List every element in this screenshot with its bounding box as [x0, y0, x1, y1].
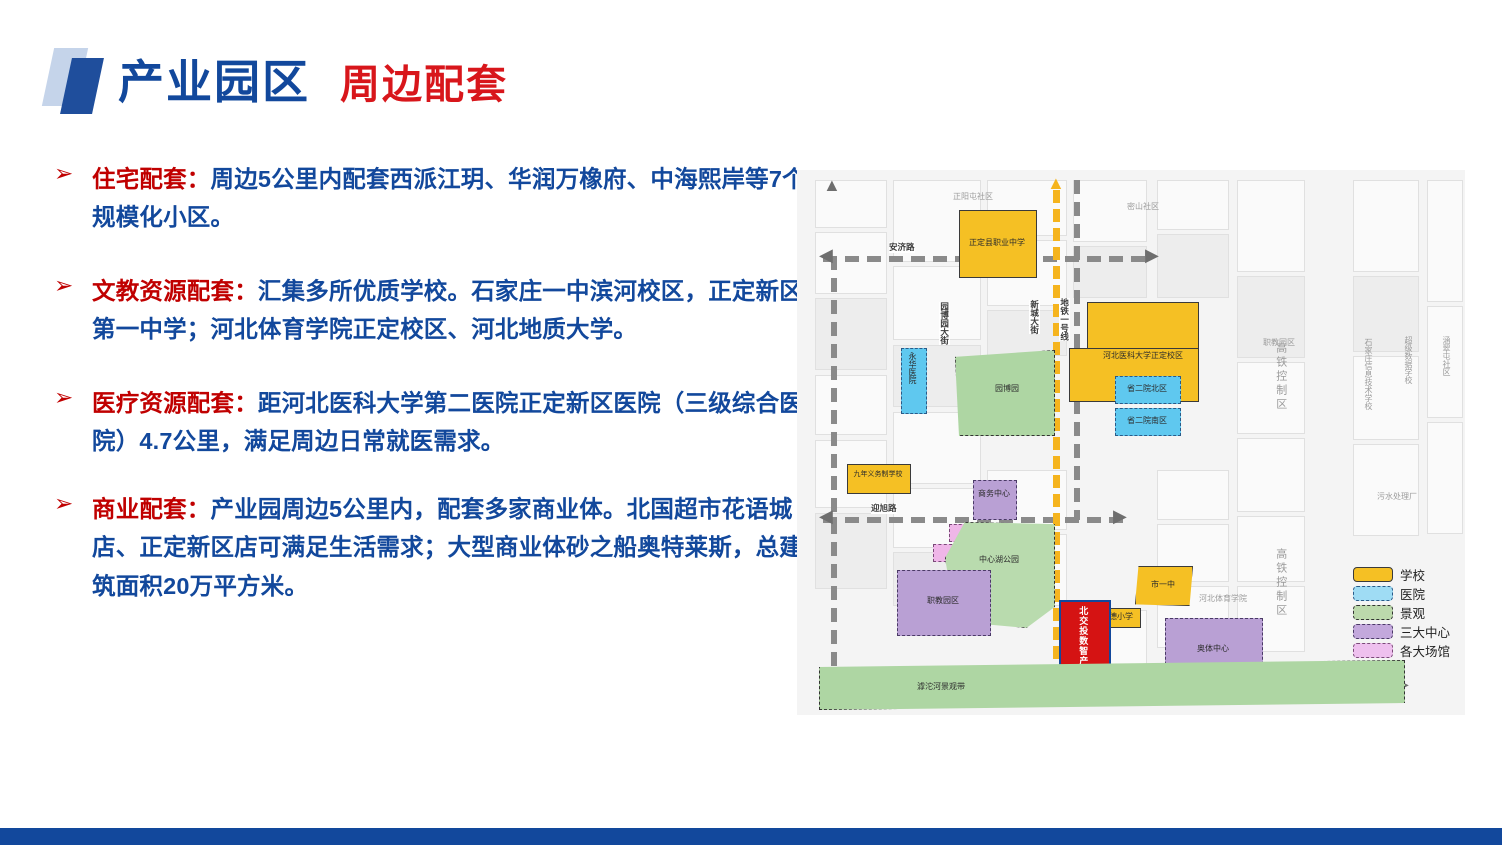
parcel-label-river-green-belt: 滹沱河景观带 [881, 682, 1001, 692]
legend-swatch-venues-icon [1353, 643, 1393, 658]
legend-item-three-centers: 三大中心 [1353, 623, 1457, 640]
bullet-text: 住宅配套：周边5公里内配套西派江玥、华润万橡府、中海熙岸等7个规模化小区。 [92, 160, 806, 236]
page-subtitle: 周边配套 [340, 52, 508, 110]
road-label-xincheng: 新城大街 [1029, 300, 1040, 334]
metro-arrow-north-icon: ▲ [1047, 174, 1065, 192]
parcel-business-center [973, 480, 1017, 520]
parcel-label-vocational-school: 正定县职业中学 [963, 238, 1031, 248]
map-block [815, 298, 887, 370]
legend-item-hospital: 医院 [1353, 585, 1457, 602]
map-legend: 学校 医院 景观 三大中心 各大场馆 [1353, 566, 1457, 661]
legend-label-three-centers: 三大中心 [1400, 622, 1450, 641]
bullet-arrow-icon: ➢ [54, 274, 73, 297]
faint-label: 河北体育学院 [1199, 594, 1247, 604]
road-label-metro-line-1: 地铁一号线 [1059, 298, 1070, 341]
faint-label: 涵翠屯社区 [1441, 336, 1451, 376]
map-block [1237, 516, 1305, 582]
road-arrow-east2-icon: ▶ [1113, 507, 1127, 525]
map-block [1427, 180, 1463, 302]
map-block [1157, 234, 1229, 298]
road-arrow-west-icon: ◀ [819, 246, 833, 264]
map-block [1353, 180, 1419, 272]
legend-swatch-three-centers-icon [1353, 624, 1393, 639]
parcel-label-central-lake-park: 中心湖公园 [969, 554, 1029, 567]
road-west-arterial [831, 256, 837, 688]
bullet-arrow-icon: ➢ [54, 492, 73, 515]
bullet-text: 医疗资源配套：距河北医科大学第二医院正定新区医院（三级综合医院）4.7公里，满足… [92, 384, 806, 460]
bullet-text: 文教资源配套：汇集多所优质学校。石家庄一中滨河校区，正定新区第一中学；河北体育学… [92, 272, 806, 348]
list-item: ➢ 商业配套：产业园周边5公里内，配套多家商业体。北国超市花语城店、正定新区店可… [46, 490, 806, 604]
faint-label: 超级数据学校 [1403, 336, 1413, 384]
parcel-label-nine-year-school: 九年义务制学校 [849, 470, 907, 479]
bullet-label: 住宅配套： [92, 166, 211, 192]
parcel-label-intl-expo-center: 职教园区 [901, 596, 985, 606]
list-item: ➢ 文教资源配套：汇集多所优质学校。石家庄一中滨河校区，正定新区第一中学；河北体… [46, 272, 806, 348]
map-block [1237, 362, 1305, 434]
legend-label-school: 学校 [1400, 565, 1425, 584]
parcel-label-city-no1-middle: 市一中 [1139, 580, 1187, 590]
map-block [1237, 438, 1305, 512]
bullet-label: 文教资源配套： [92, 278, 258, 304]
road-label-anji: 安济路 [889, 242, 915, 253]
hsr-control-zone-north: 高铁控制区 [1273, 342, 1287, 412]
faint-label: 正阳屯社区 [953, 192, 993, 202]
road-arrow-north-icon: ▲ [823, 176, 841, 194]
parcel-label-yonghua-hospital: 永华医院 [907, 352, 917, 384]
page-title: 产业园区 [118, 46, 310, 112]
legend-item-landscape: 景观 [1353, 604, 1457, 621]
map-block [1157, 180, 1229, 230]
parcel-label-prov2-north: 省二院北区 [1117, 384, 1177, 394]
legend-label-landscape: 景观 [1400, 603, 1425, 622]
bullet-list: ➢ 住宅配套：周边5公里内配套西派江玥、华润万橡府、中海熙岸等7个规模化小区。 … [46, 160, 806, 641]
legend-swatch-hospital-icon [1353, 586, 1393, 601]
legend-label-hospital: 医院 [1400, 584, 1425, 603]
legend-swatch-school-icon [1353, 567, 1393, 582]
parcel-label-business-center: 商务中心 [975, 488, 1013, 499]
map-block [815, 375, 887, 435]
bullet-arrow-icon: ➢ [54, 162, 73, 185]
legend-item-school: 学校 [1353, 566, 1457, 583]
legend-swatch-landscape-icon [1353, 605, 1393, 620]
legend-item-venues: 各大场馆 [1353, 642, 1457, 659]
bullet-label: 医疗资源配套： [92, 390, 258, 416]
bullet-label: 商业配套： [92, 496, 211, 522]
road-label-yingxu: 迎旭路 [871, 503, 897, 514]
hsr-control-zone-south: 高铁控制区 [1273, 548, 1287, 618]
map-block [1073, 246, 1147, 298]
map-block [1427, 422, 1463, 534]
bullet-text: 商业配套：产业园周边5公里内，配套多家商业体。北国超市花语城店、正定新区店可满足… [92, 490, 806, 604]
faint-label: 污水处理厂 [1377, 492, 1417, 502]
slide-header: 产业园区 周边配套 [0, 0, 1502, 140]
parcel-label-expo-park: 园博园 [979, 384, 1035, 394]
list-item: ➢ 医疗资源配套：距河北医科大学第二医院正定新区医院（三级综合医院）4.7公里，… [46, 384, 806, 460]
parcel-label-prov2-south: 省二院南区 [1117, 416, 1177, 426]
road-arrow-west2-icon: ◀ [819, 507, 833, 525]
legend-label-venues: 各大场馆 [1400, 641, 1450, 660]
faint-label: 石家庄信息技术学校 [1363, 338, 1373, 410]
road-arrow-east-icon: ▶ [1145, 246, 1159, 264]
bullet-arrow-icon: ➢ [54, 386, 73, 409]
faint-label: 密山社区 [1127, 202, 1159, 212]
parcel-label-hebei-medical-univ: 河北医科大学正定校区 [1093, 350, 1193, 362]
map-block [1157, 470, 1229, 520]
logo-mark-icon [46, 48, 112, 112]
list-item: ➢ 住宅配套：周边5公里内配套西派江玥、华润万橡府、中海熙岸等7个规模化小区。 [46, 160, 806, 236]
road-label-yuanboyuan: 园博园大街 [939, 302, 950, 345]
map-block [1237, 180, 1305, 272]
footer-bar [0, 828, 1502, 845]
site-context-map: ◀ ◀ ◀ ▲ ▶ ▶ ▶ ▲ ▼ 安济路 迎旭路 迎宾路 园博园大街 新城大街… [797, 170, 1465, 715]
parcel-label-olympic-center: 奥体中心 [1169, 644, 1257, 654]
map-block [1353, 444, 1419, 536]
